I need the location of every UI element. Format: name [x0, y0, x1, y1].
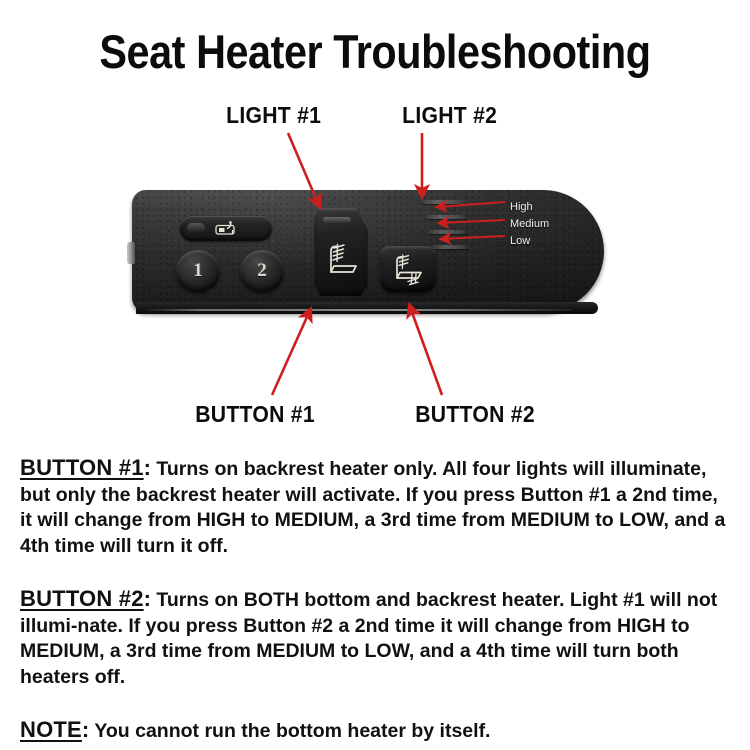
seat-adjust-button[interactable] [180, 216, 272, 241]
paragraph-1-colon: : [144, 455, 151, 480]
level-label-low: Low [510, 235, 530, 247]
paragraph-button-2: BUTTON #2: Turns on BOTH bottom and back… [20, 586, 732, 690]
paragraph-2-colon: : [144, 586, 151, 611]
page-title: Seat Heater Troubleshooting [45, 26, 705, 78]
panel-side-tab [127, 242, 135, 264]
callout-label-light-2: LIGHT #2 [402, 103, 497, 128]
panel-bottom-lip [136, 302, 598, 314]
indicator-light-4 [431, 245, 469, 249]
heater-button-1[interactable] [314, 208, 368, 296]
paragraph-note: NOTE: You cannot run the bottom heater b… [20, 717, 732, 745]
callout-label-light-1: LIGHT #1 [226, 103, 321, 128]
callout-label-button-1: BUTTON #1 [195, 402, 315, 427]
memory-position-button-1[interactable]: 1 [176, 250, 220, 292]
paragraph-3-lead: NOTE [20, 717, 82, 742]
paragraph-1-lead: BUTTON #1 [20, 455, 144, 480]
indicator-light-1 [422, 200, 466, 204]
seat-heater-diagram: LIGHT #1 LIGHT #2 BUTTON #1 BUTTON #2 1 … [0, 90, 750, 440]
paragraph-3-text: You cannot run the bottom heater by itse… [89, 720, 490, 742]
memory-position-button-2[interactable]: 2 [240, 250, 284, 292]
instructions-body: BUTTON #1: Turns on backrest heater only… [20, 455, 732, 745]
level-label-medium: Medium [510, 218, 549, 230]
backrest-heater-icon [323, 242, 361, 282]
indicator-light-3 [428, 230, 468, 234]
seat-adjust-icon [213, 221, 239, 237]
level-label-high: High [510, 201, 533, 213]
callout-label-button-2: BUTTON #2 [415, 402, 535, 427]
panel-lip-highlight [142, 309, 572, 311]
arrow-button-1 [272, 308, 311, 395]
indicator-light-2 [425, 215, 467, 219]
heater-button-2[interactable] [380, 246, 436, 292]
heater-button-1-gloss [323, 217, 351, 223]
paragraph-2-lead: BUTTON #2 [20, 586, 144, 611]
paragraph-button-1: BUTTON #1: Turns on backrest heater only… [20, 455, 732, 559]
seat-control-panel: 1 2 [132, 190, 604, 320]
backrest-and-bottom-heater-icon [388, 253, 430, 287]
